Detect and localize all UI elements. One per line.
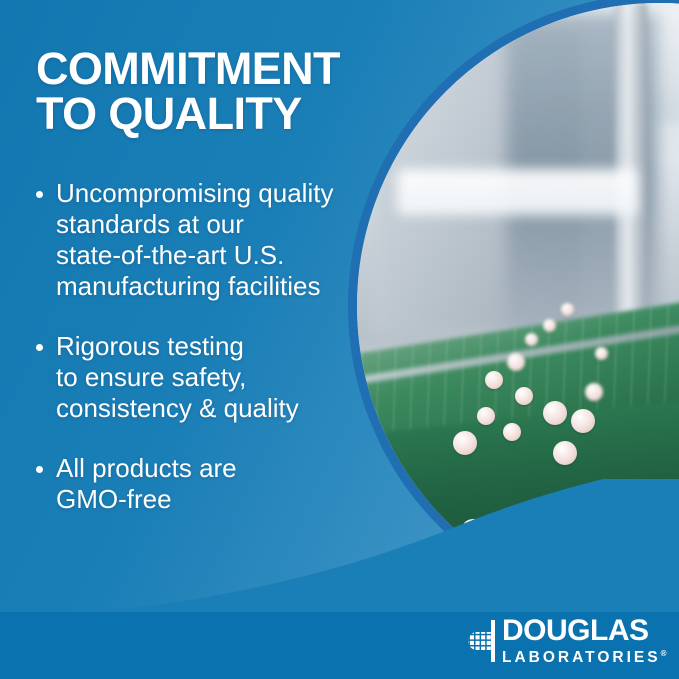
list-item: Rigorous testing to ensure safety, consi… — [34, 331, 364, 424]
photo-tablet — [525, 333, 538, 346]
photo-tablet — [507, 353, 525, 371]
list-item-line: All products are — [56, 453, 364, 484]
photo-tablet — [503, 423, 521, 441]
promo-banner: COMMITMENT TO QUALITY Uncompromising qua… — [0, 0, 679, 679]
list-item: Uncompromising quality standards at our … — [34, 178, 364, 302]
photo-tablet — [561, 303, 574, 316]
registered-trademark-icon: ® — [661, 649, 667, 658]
photo-tablet — [585, 383, 603, 401]
photo-tablet — [595, 347, 608, 360]
benefits-list: Uncompromising quality standards at our … — [34, 178, 364, 544]
photo-light-bar — [397, 169, 637, 215]
photo-tablet — [477, 407, 495, 425]
brand-logo: DOUGLAS LABORATORIES® — [447, 617, 662, 667]
list-item: All products are GMO-free — [34, 453, 364, 515]
list-item-line: GMO-free — [56, 484, 364, 515]
douglas-grid-circle-icon — [447, 618, 493, 664]
logo-subtitle-text: LABORATORIES — [502, 649, 661, 666]
list-item-line: Uncompromising quality — [56, 178, 364, 209]
page-title: COMMITMENT TO QUALITY — [36, 46, 366, 136]
photo-tablet — [453, 431, 477, 455]
page-title-line-1: COMMITMENT — [36, 46, 366, 91]
logo-brand-subtitle: LABORATORIES® — [502, 645, 666, 667]
photo-tablet — [485, 371, 503, 389]
photo-tablet — [543, 319, 556, 332]
list-item-line: standards at our — [56, 209, 364, 240]
photo-tablet — [553, 441, 577, 465]
list-item-line: manufacturing facilities — [56, 271, 364, 302]
list-item-line: state-of-the-art U.S. — [56, 240, 364, 271]
photo-tablet — [515, 387, 533, 405]
photo-tablet — [543, 401, 567, 425]
list-item-line: consistency & quality — [56, 393, 364, 424]
page-title-line-2: TO QUALITY — [36, 91, 366, 136]
list-item-line: to ensure safety, — [56, 362, 364, 393]
logo-divider — [491, 620, 495, 662]
logo-brand-name: DOUGLAS — [502, 617, 666, 645]
list-item-line: Rigorous testing — [56, 331, 364, 362]
photo-tablet — [571, 409, 595, 433]
logo-wordmark: DOUGLAS LABORATORIES® — [502, 617, 666, 667]
